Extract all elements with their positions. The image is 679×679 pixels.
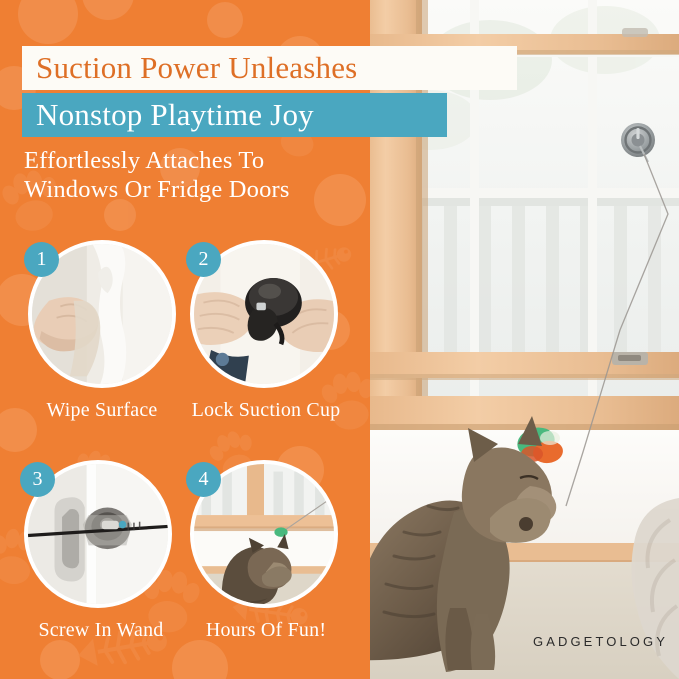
headline-line-1-text: Suction Power Unleashes: [36, 50, 357, 86]
step-2-lock-suction-cup: 2 Lock Suction Cup: [190, 240, 342, 422]
step-2-number-badge: 2: [186, 242, 221, 277]
brand-logo: GADGETOLOGY: [533, 634, 668, 649]
subheading-line-2: Windows Or Fridge Doors: [24, 175, 364, 204]
step-4-hours-of-fun: 4 Hours Of Fun!: [190, 460, 342, 642]
step-4-number-badge: 4: [186, 462, 221, 497]
window-latch: [612, 352, 648, 365]
step-1-wipe-surface: 1 Wipe Surface: [28, 240, 180, 422]
window-top-latch: [622, 28, 648, 37]
step-4-label: Hours Of Fun!: [190, 619, 342, 642]
subheading-line-1: Effortlessly Attaches To: [24, 146, 364, 175]
headline-banner-line-2: Nonstop Playtime Joy: [22, 93, 447, 137]
step-3-label: Screw In Wand: [26, 619, 176, 642]
step-2-label: Lock Suction Cup: [190, 399, 342, 422]
step-1-number-badge: 1: [24, 242, 59, 277]
headline-banner-line-1: Suction Power Unleashes: [22, 46, 517, 90]
step-3-screw-in-wand: 3 Screw In Wand: [24, 460, 176, 642]
subheading: Effortlessly Attaches To Windows Or Frid…: [24, 146, 364, 204]
product-infographic: GADGETOLOGY Suction Power Unleashes Nons…: [0, 0, 679, 679]
headline-line-2-text: Nonstop Playtime Joy: [36, 97, 314, 133]
step-3-number-badge: 3: [20, 462, 55, 497]
step-1-label: Wipe Surface: [24, 399, 180, 422]
